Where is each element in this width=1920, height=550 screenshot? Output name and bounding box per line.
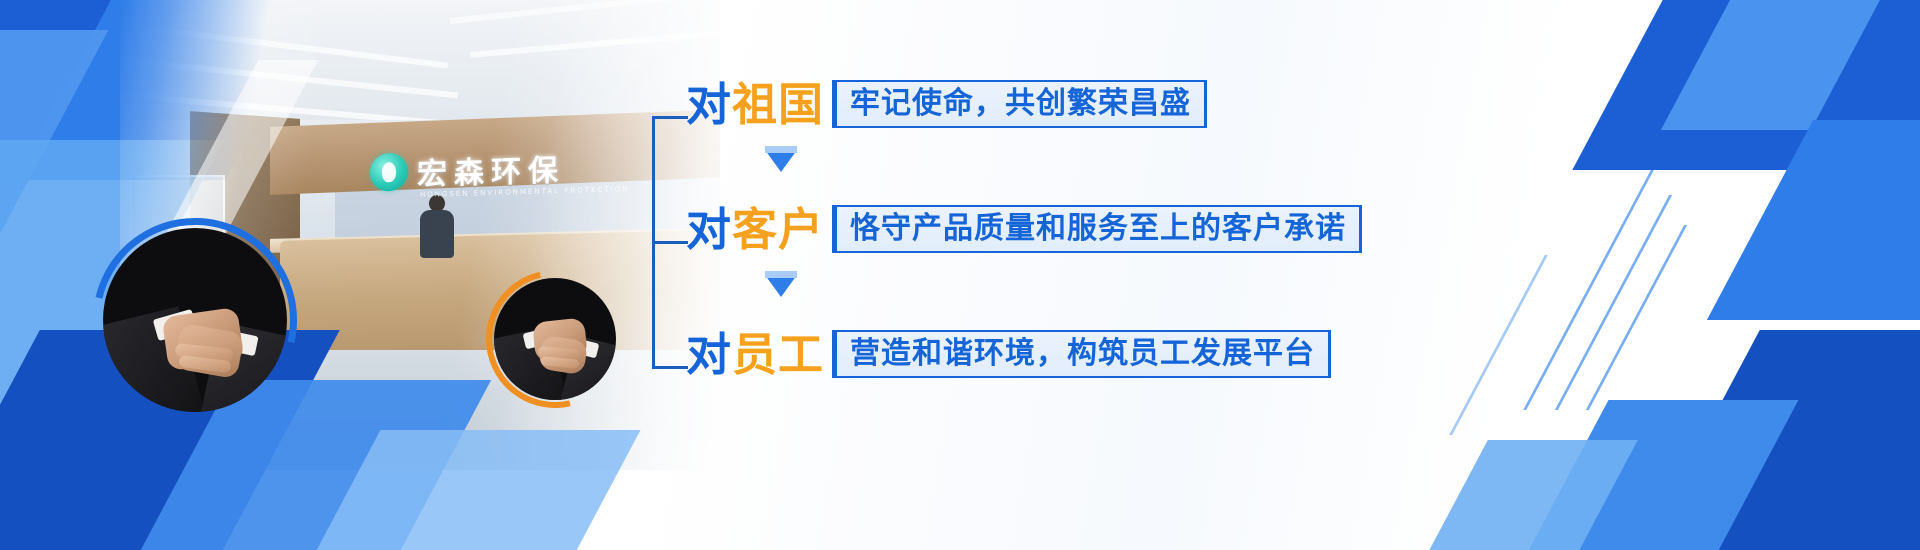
bracket-tick xyxy=(652,116,688,119)
commitment-prefix: 对 xyxy=(686,78,732,131)
commitment-tag: 牢记使命，共创繁荣昌盛 xyxy=(832,80,1207,128)
bracket-tick xyxy=(652,366,688,369)
commitment-prefix: 对 xyxy=(686,328,732,381)
arrow-down-icon xyxy=(765,150,797,172)
commitment-statement: 恪守产品质量和服务至上的客户承诺 xyxy=(844,214,1352,244)
commitment-statement: 营造和谐环境，构筑员工发展平台 xyxy=(844,339,1321,369)
decor-line-right xyxy=(1555,195,1672,410)
commitment-row-country: 对祖国 牢记使命，共创繁荣昌盛 xyxy=(686,80,1207,128)
promo-banner: 宏森环保 HONGSEN ENVIRONMENTAL PROTECTION xyxy=(0,0,1920,550)
bracket-tick xyxy=(652,241,688,244)
commitment-row-employee: 对员工 营造和谐环境，构筑员工发展平台 xyxy=(686,330,1331,378)
commitment-lead: 对客户 xyxy=(686,207,824,252)
commitment-subject: 祖国 xyxy=(732,78,824,131)
commitment-tag: 营造和谐环境，构筑员工发展平台 xyxy=(832,330,1331,378)
commitment-lead: 对员工 xyxy=(686,332,824,377)
handshake-photo-small xyxy=(494,278,616,400)
commitment-subject: 员工 xyxy=(732,328,824,381)
arrow-down-icon xyxy=(765,275,797,297)
commitment-row-customer: 对客户 恪守产品质量和服务至上的客户承诺 xyxy=(686,205,1362,253)
commitment-lead: 对祖国 xyxy=(686,82,824,127)
commitment-subject: 客户 xyxy=(732,203,824,256)
decor-line-right xyxy=(1523,170,1654,410)
handshake-photo-large xyxy=(103,228,287,412)
decor-line-right xyxy=(1586,225,1687,410)
commitment-prefix: 对 xyxy=(686,203,732,256)
decor-line-right xyxy=(1449,255,1548,435)
commitments-block: 对祖国 牢记使命，共创繁荣昌盛 对客户 恪守产品质量和服务至上的客户承诺 对员工… xyxy=(652,80,1352,380)
commitment-tag: 恪守产品质量和服务至上的客户承诺 xyxy=(832,205,1362,253)
commitment-statement: 牢记使命，共创繁荣昌盛 xyxy=(844,89,1197,119)
